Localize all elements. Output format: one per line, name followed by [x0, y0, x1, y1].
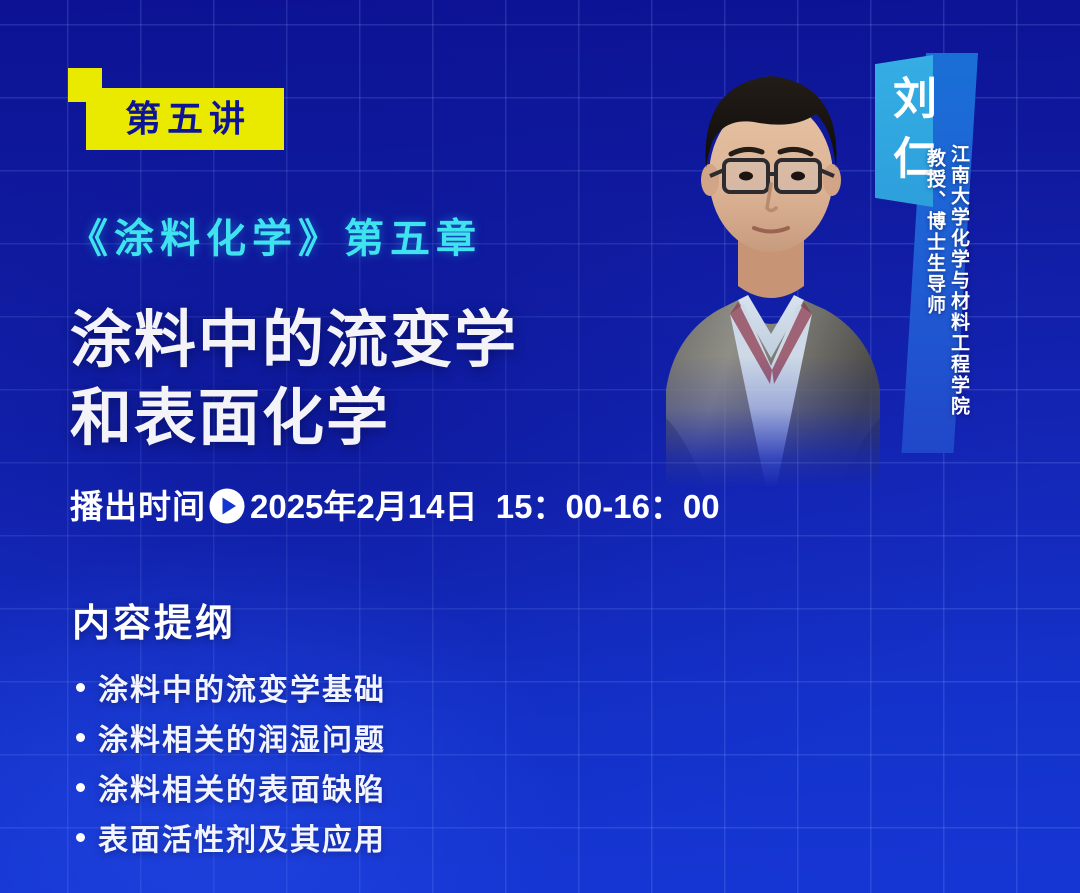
lesson-badge: 第五讲 — [86, 88, 284, 150]
list-item-label: 涂料相关的润湿问题 — [98, 715, 386, 759]
lesson-badge-label: 第五讲 — [119, 101, 251, 137]
broadcast-datetime: 2025年2月14日 15：00-16：00 — [250, 490, 720, 523]
speaker-info-block: 刘仁 江南大学化学与材料工程学院 教授、博士生导师 — [840, 40, 1080, 460]
page-title: 涂料中的流变学 和表面化学 — [70, 302, 518, 458]
list-item-label: 涂料中的流变学基础 — [98, 665, 386, 709]
broadcast-time-row: 播出时间 2025年2月14日 15：00-16：00 — [70, 487, 720, 525]
speaker-affiliation: 江南大学化学与材料工程学院 — [949, 144, 968, 417]
play-icon — [208, 487, 246, 525]
bullet-icon — [76, 733, 85, 742]
bullet-icon — [76, 683, 85, 692]
list-item: 涂料相关的润湿问题 — [72, 712, 386, 762]
course-promo-poster: 第五讲 《涂料化学》第五章 涂料中的流变学 和表面化学 播出时间 2025年2月… — [0, 0, 1080, 893]
outline-heading: 内容提纲 — [72, 592, 236, 647]
broadcast-label: 播出时间 — [70, 490, 206, 523]
list-item: 表面活性剂及其应用 — [72, 812, 386, 862]
bullet-icon — [76, 833, 85, 842]
list-item: 涂料中的流变学基础 — [72, 662, 386, 712]
list-item: 涂料相关的表面缺陷 — [72, 762, 386, 812]
chapter-subtitle: 《涂料化学》第五章 — [68, 206, 482, 264]
bullet-icon — [76, 783, 85, 792]
list-item-label: 涂料相关的表面缺陷 — [98, 765, 386, 809]
outline-list: 涂料中的流变学基础 涂料相关的润湿问题 涂料相关的表面缺陷 表面活性剂及其应用 — [72, 662, 386, 862]
list-item-label: 表面活性剂及其应用 — [98, 815, 386, 859]
speaker-role: 教授、博士生导师 — [925, 148, 944, 316]
